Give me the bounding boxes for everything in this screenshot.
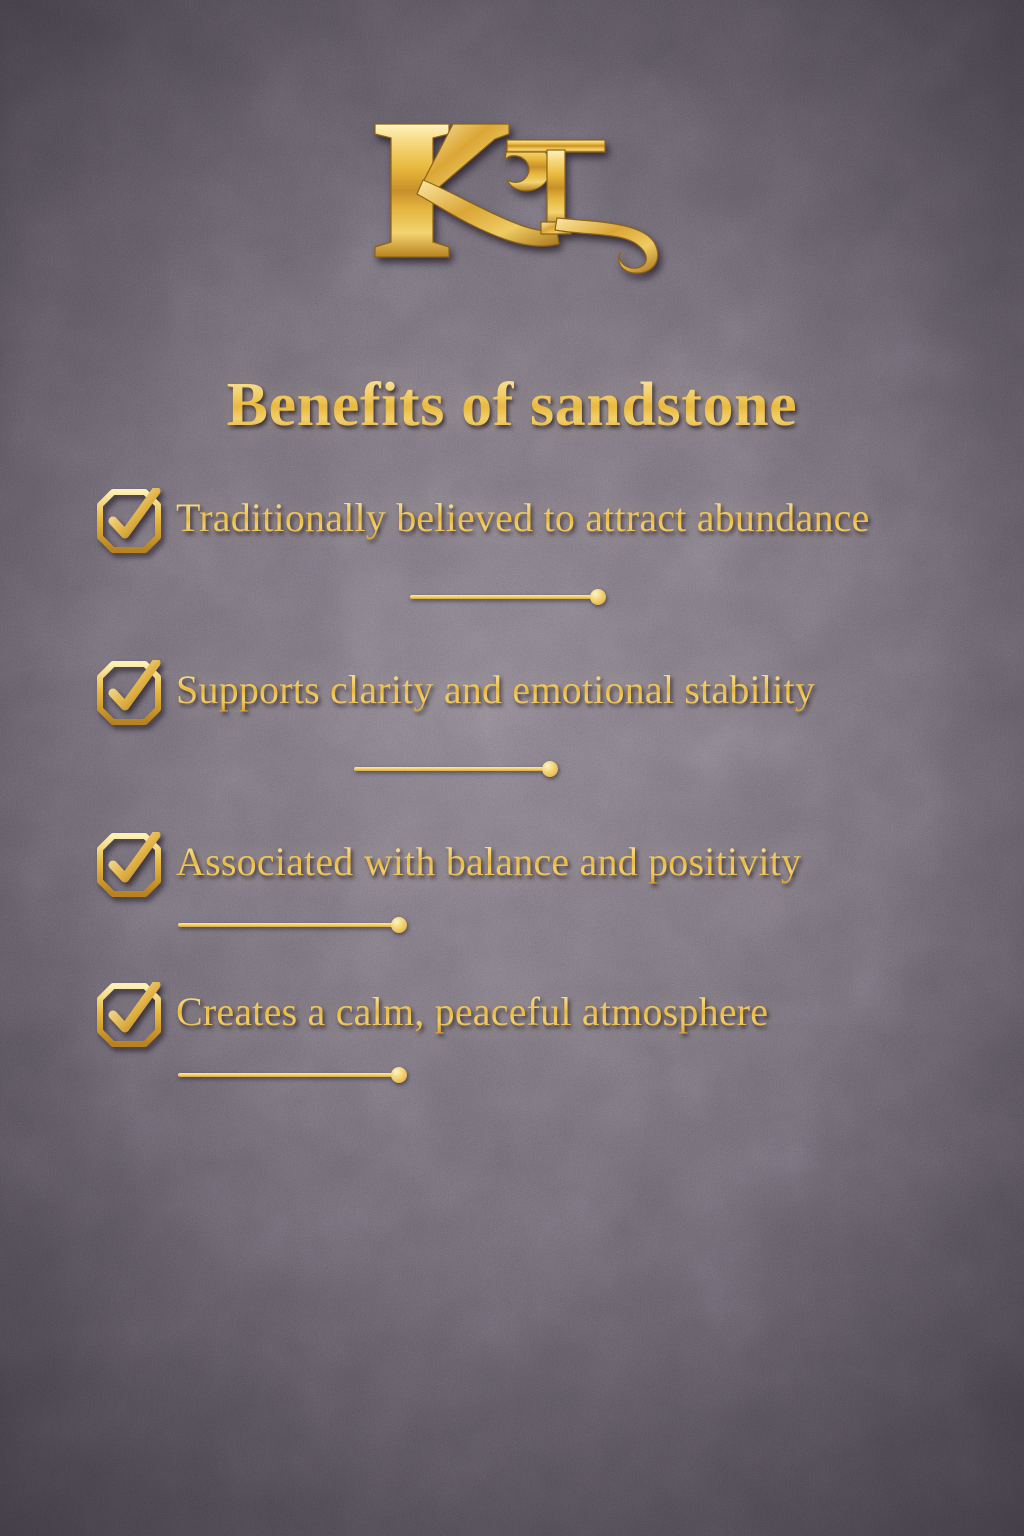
accent-rule-line [178,1073,393,1077]
benefits-list: Traditionally believed to attract abunda… [96,486,968,1130]
accent-rule-dot [590,589,606,605]
list-item-label: Supports clarity and emotional stability [176,667,815,712]
list-item: Creates a calm, peaceful atmosphere [96,980,968,1108]
brand-logo [0,92,1024,292]
accent-rule [354,760,558,778]
list-item-label: Creates a calm, peaceful atmosphere [176,989,768,1034]
accent-rule-dot [542,761,558,777]
checkbox-checked-icon [96,982,162,1048]
list-item: Traditionally believed to attract abunda… [96,486,968,636]
page-title-text: Benefits of sandstone [227,371,798,439]
accent-rule [178,1066,407,1084]
accent-rule-dot [391,1067,407,1083]
kp-monogram-icon [357,110,667,275]
list-item-label: Traditionally believed to attract abunda… [176,495,870,540]
accent-rule-line [410,595,592,599]
accent-rule-dot [391,917,407,933]
accent-rule-line [354,767,544,771]
accent-rule-line [178,923,393,927]
list-item: Associated with balance and positivity [96,830,968,958]
list-item: Supports clarity and emotional stability [96,658,968,808]
checkbox-checked-icon [96,832,162,898]
checkbox-checked-icon [96,488,162,554]
accent-rule [410,588,606,606]
page-title: Benefits of sandstone [0,374,1024,436]
accent-rule [178,916,407,934]
sandstone-benefits-poster: Benefits of sandstone [0,0,1024,1536]
checkbox-checked-icon [96,660,162,726]
list-item-label: Associated with balance and positivity [176,839,801,884]
